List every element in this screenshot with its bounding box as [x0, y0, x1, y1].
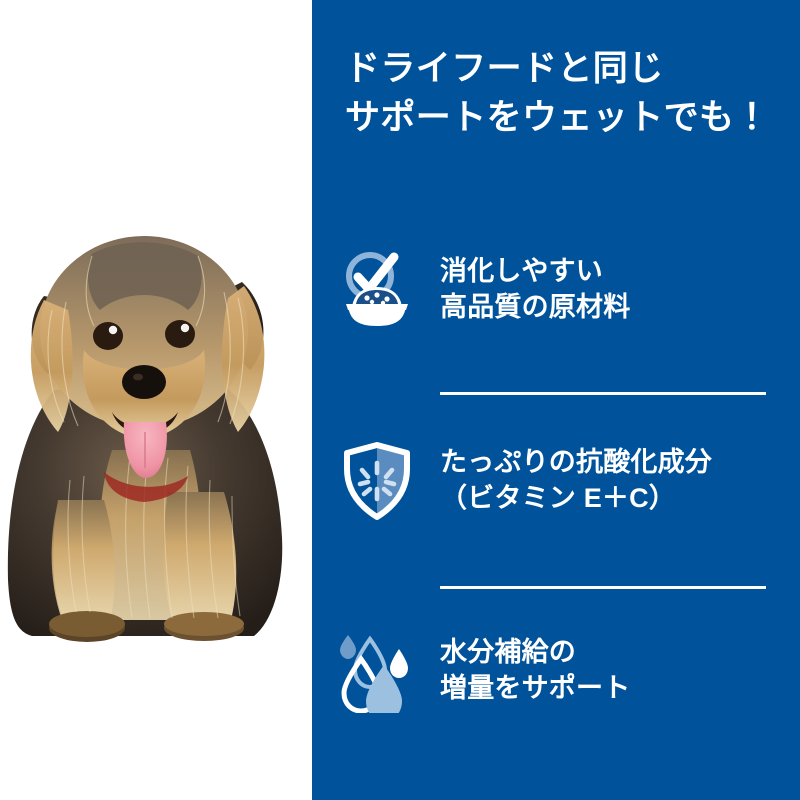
feature-label-antioxidants: たっぷりの抗酸化成分 （ビタミン E＋C） [440, 444, 712, 516]
feature-row-antioxidants: たっぷりの抗酸化成分 （ビタミン E＋C） [336, 437, 786, 523]
feature-row-hydration: 水分補給の 増量をサポート [336, 627, 786, 713]
product-benefits-banner: ドライフードと同じ サポートをウェットでも！ 消化しやすい 高品質の [0, 0, 800, 800]
feature-row-digestible-ingredients: 消化しやすい 高品質の原材料 [336, 246, 786, 332]
info-pane: ドライフードと同じ サポートをウェットでも！ 消化しやすい 高品質の [312, 0, 800, 800]
food-bowl-check-icon [336, 246, 418, 332]
dog-photo [0, 150, 312, 650]
feature-label-hydration: 水分補給の 増量をサポート [440, 634, 630, 706]
divider-1 [440, 392, 766, 395]
feature-label-digestible-ingredients: 消化しやすい 高品質の原材料 [440, 253, 630, 325]
divider-2 [440, 586, 766, 589]
shield-antioxidant-icon [336, 437, 418, 523]
water-droplets-icon [336, 627, 418, 713]
dog-photo-pane [0, 0, 312, 800]
page-title: ドライフードと同じ サポートをウェットでも！ [345, 44, 785, 142]
